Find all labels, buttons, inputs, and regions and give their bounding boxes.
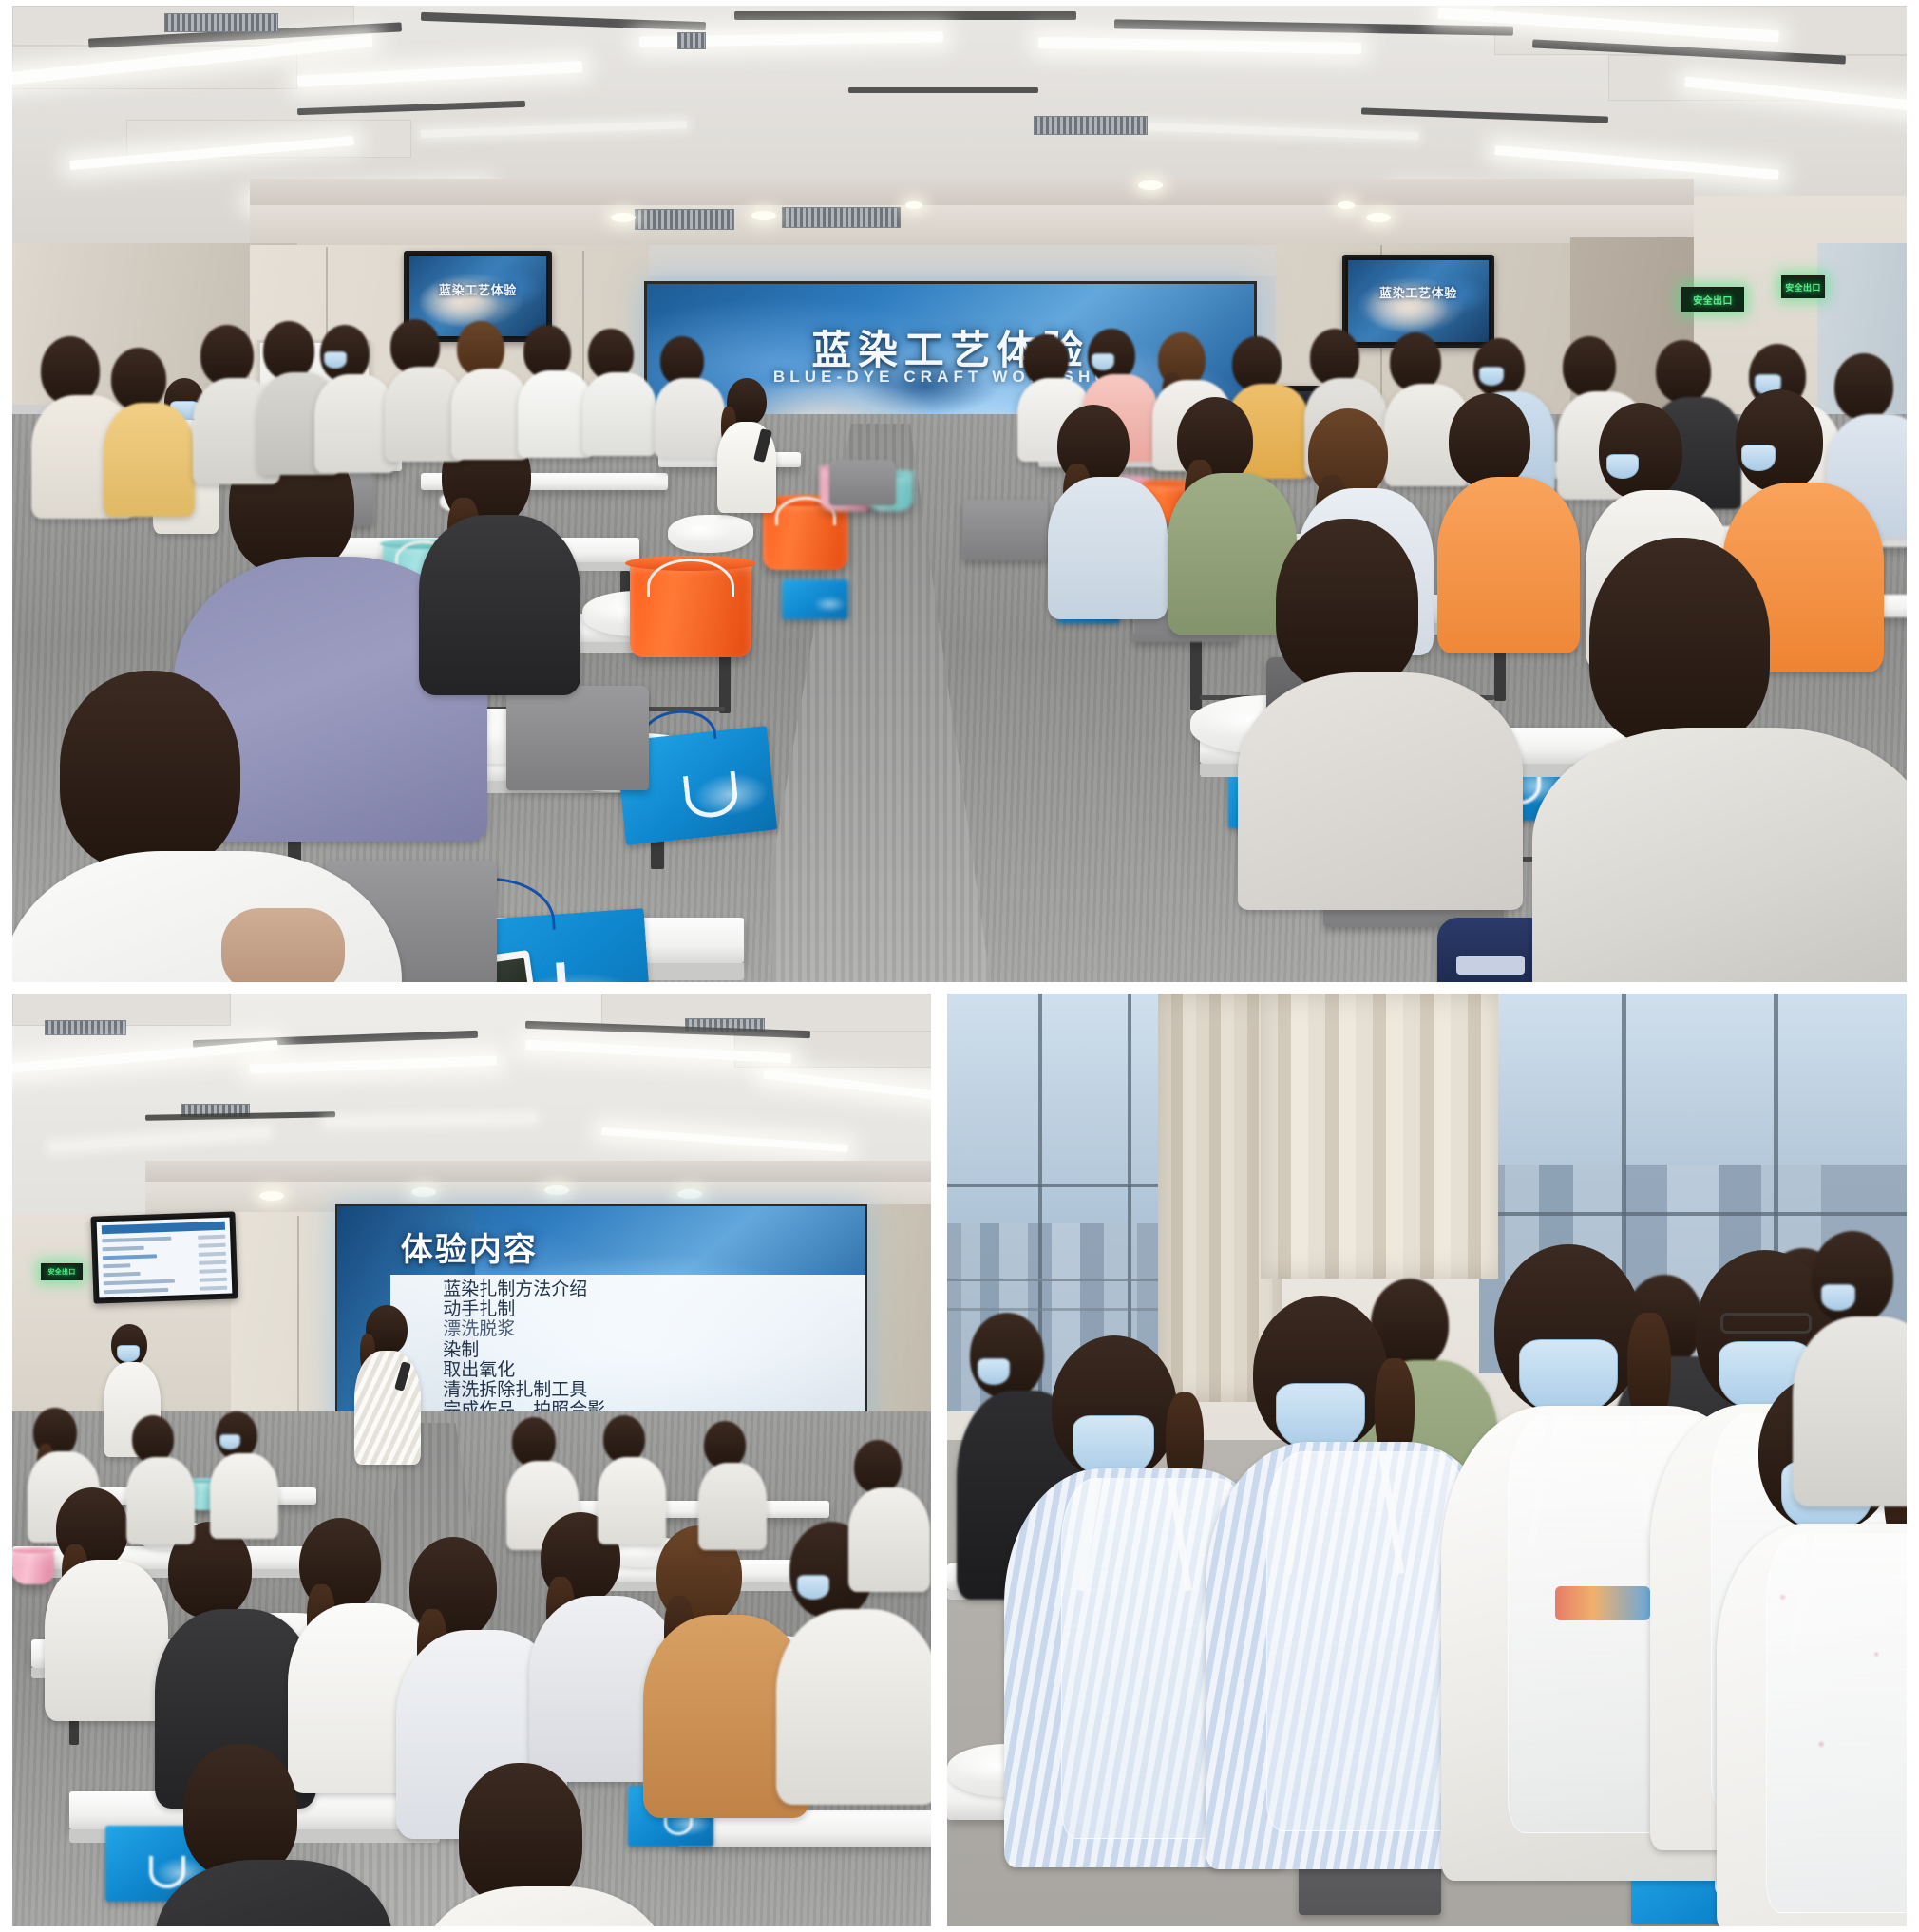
gift-tote-bag xyxy=(782,579,848,619)
exit-sign: 安全出口 xyxy=(41,1263,83,1280)
chair xyxy=(962,500,1048,560)
photo-collage: 安全出口 安全出口 蓝染工艺体验 蓝染工艺体验 xyxy=(0,0,1919,1932)
plastic-apron xyxy=(1766,1533,1907,1913)
curtain xyxy=(1261,994,1498,1279)
panel-presenter-and-slide: 安全出口 体验内容 蓝染扎制方法介绍 动手扎制 xyxy=(12,994,931,1926)
panel-participants-closeup xyxy=(947,994,1907,1926)
tee-graphic xyxy=(1555,1586,1650,1620)
agenda-item: 清洗拆除扎制工具 xyxy=(443,1380,855,1400)
person-arm xyxy=(221,908,345,982)
dye-bucket xyxy=(12,1550,54,1584)
panel-main-auditorium-wide: 安全出口 安全出口 蓝染工艺体验 蓝染工艺体验 xyxy=(12,6,1907,982)
air-vent xyxy=(677,32,706,49)
desk xyxy=(12,1546,307,1569)
chair xyxy=(506,686,649,790)
agenda-item: 取出氧化 xyxy=(443,1360,855,1380)
tv-title: 蓝染工艺体验 xyxy=(409,280,546,298)
fabric-cloth xyxy=(668,515,753,553)
glasses-icon xyxy=(1720,1313,1812,1334)
exit-sign: 安全出口 xyxy=(1781,275,1825,298)
collage-border-top xyxy=(0,0,1919,6)
collage-gutter xyxy=(0,982,1919,994)
tv-title: 蓝染工艺体验 xyxy=(1348,283,1489,301)
agenda-item: 染制 xyxy=(443,1340,855,1360)
collage-border-left xyxy=(0,0,12,1932)
room-schedule-display[interactable] xyxy=(90,1211,237,1303)
agenda-item: 动手扎制 xyxy=(443,1299,855,1319)
exit-sign: 安全出口 xyxy=(1681,287,1744,312)
dye-bucket xyxy=(630,562,751,657)
schedule-header xyxy=(102,1222,225,1235)
collage-border-right xyxy=(1907,0,1919,1932)
collage-border-bottom xyxy=(0,1926,1919,1932)
chair xyxy=(829,460,896,505)
window-railing xyxy=(947,1279,1185,1311)
air-vent xyxy=(782,207,901,228)
air-vent xyxy=(45,1020,126,1035)
agenda-item: 蓝染扎制方法介绍 xyxy=(443,1279,855,1299)
schedule-list xyxy=(97,1218,233,1298)
air-vent xyxy=(1034,116,1148,135)
face-mask xyxy=(1519,1339,1618,1415)
tv-screen: 蓝染工艺体验 xyxy=(1348,260,1489,342)
collage-gutter xyxy=(931,982,947,1932)
agenda-heading: 体验内容 xyxy=(401,1223,538,1270)
air-vent xyxy=(635,209,734,230)
agenda-item: 漂洗脱浆 xyxy=(443,1319,855,1339)
air-vent xyxy=(164,13,278,32)
